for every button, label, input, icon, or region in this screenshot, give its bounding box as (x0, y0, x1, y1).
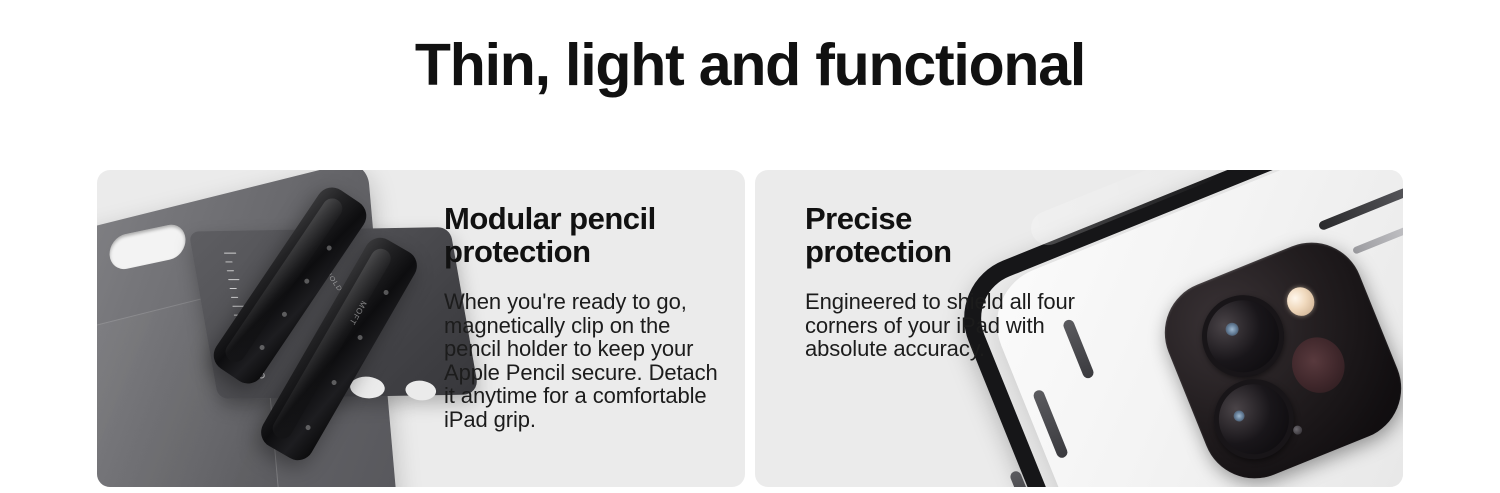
camera-lens-primary (1190, 283, 1297, 390)
bar-magnet-dot (305, 424, 312, 431)
lens-glint (1232, 409, 1246, 423)
card-text-block: Modular pencil protection When you're re… (444, 202, 732, 431)
feature-card-modular-pencil-protection[interactable]: PENCIL HOLDER MOFT (97, 170, 745, 487)
card-text-block: Precise protection Engineered to shield … (805, 202, 1105, 361)
flash-icon (1283, 283, 1319, 320)
product-feature-section: Thin, light and functional (0, 0, 1500, 493)
section-title: Thin, light and functional (0, 28, 1500, 102)
bar-magnet-dot (281, 311, 288, 318)
bar-magnet-dot (357, 334, 364, 341)
flap-notch (404, 380, 438, 400)
bar-magnet-dot (326, 245, 333, 252)
lidar-sensor (1284, 329, 1353, 400)
card-heading: Precise protection (805, 202, 1105, 268)
microphone-dot (1292, 424, 1304, 436)
card-heading: Modular pencil protection (444, 202, 732, 268)
bar-magnet-dot (303, 278, 310, 285)
feature-card-row: PENCIL HOLDER MOFT (97, 170, 1403, 487)
card-body-text: When you're ready to go, magnetically cl… (444, 290, 732, 431)
bar-magnet-dot (259, 344, 266, 351)
camera-cutout (109, 222, 187, 273)
camera-lens-secondary (1202, 367, 1306, 471)
feature-card-precise-protection[interactable]: Precise protection Engineered to shield … (755, 170, 1403, 487)
flap-notch (348, 376, 386, 398)
card-body-text: Engineered to shield all four corners of… (805, 290, 1105, 361)
lens-glint (1224, 321, 1241, 338)
bar-magnet-dot (331, 379, 338, 386)
bar-magnet-dot (383, 289, 390, 296)
